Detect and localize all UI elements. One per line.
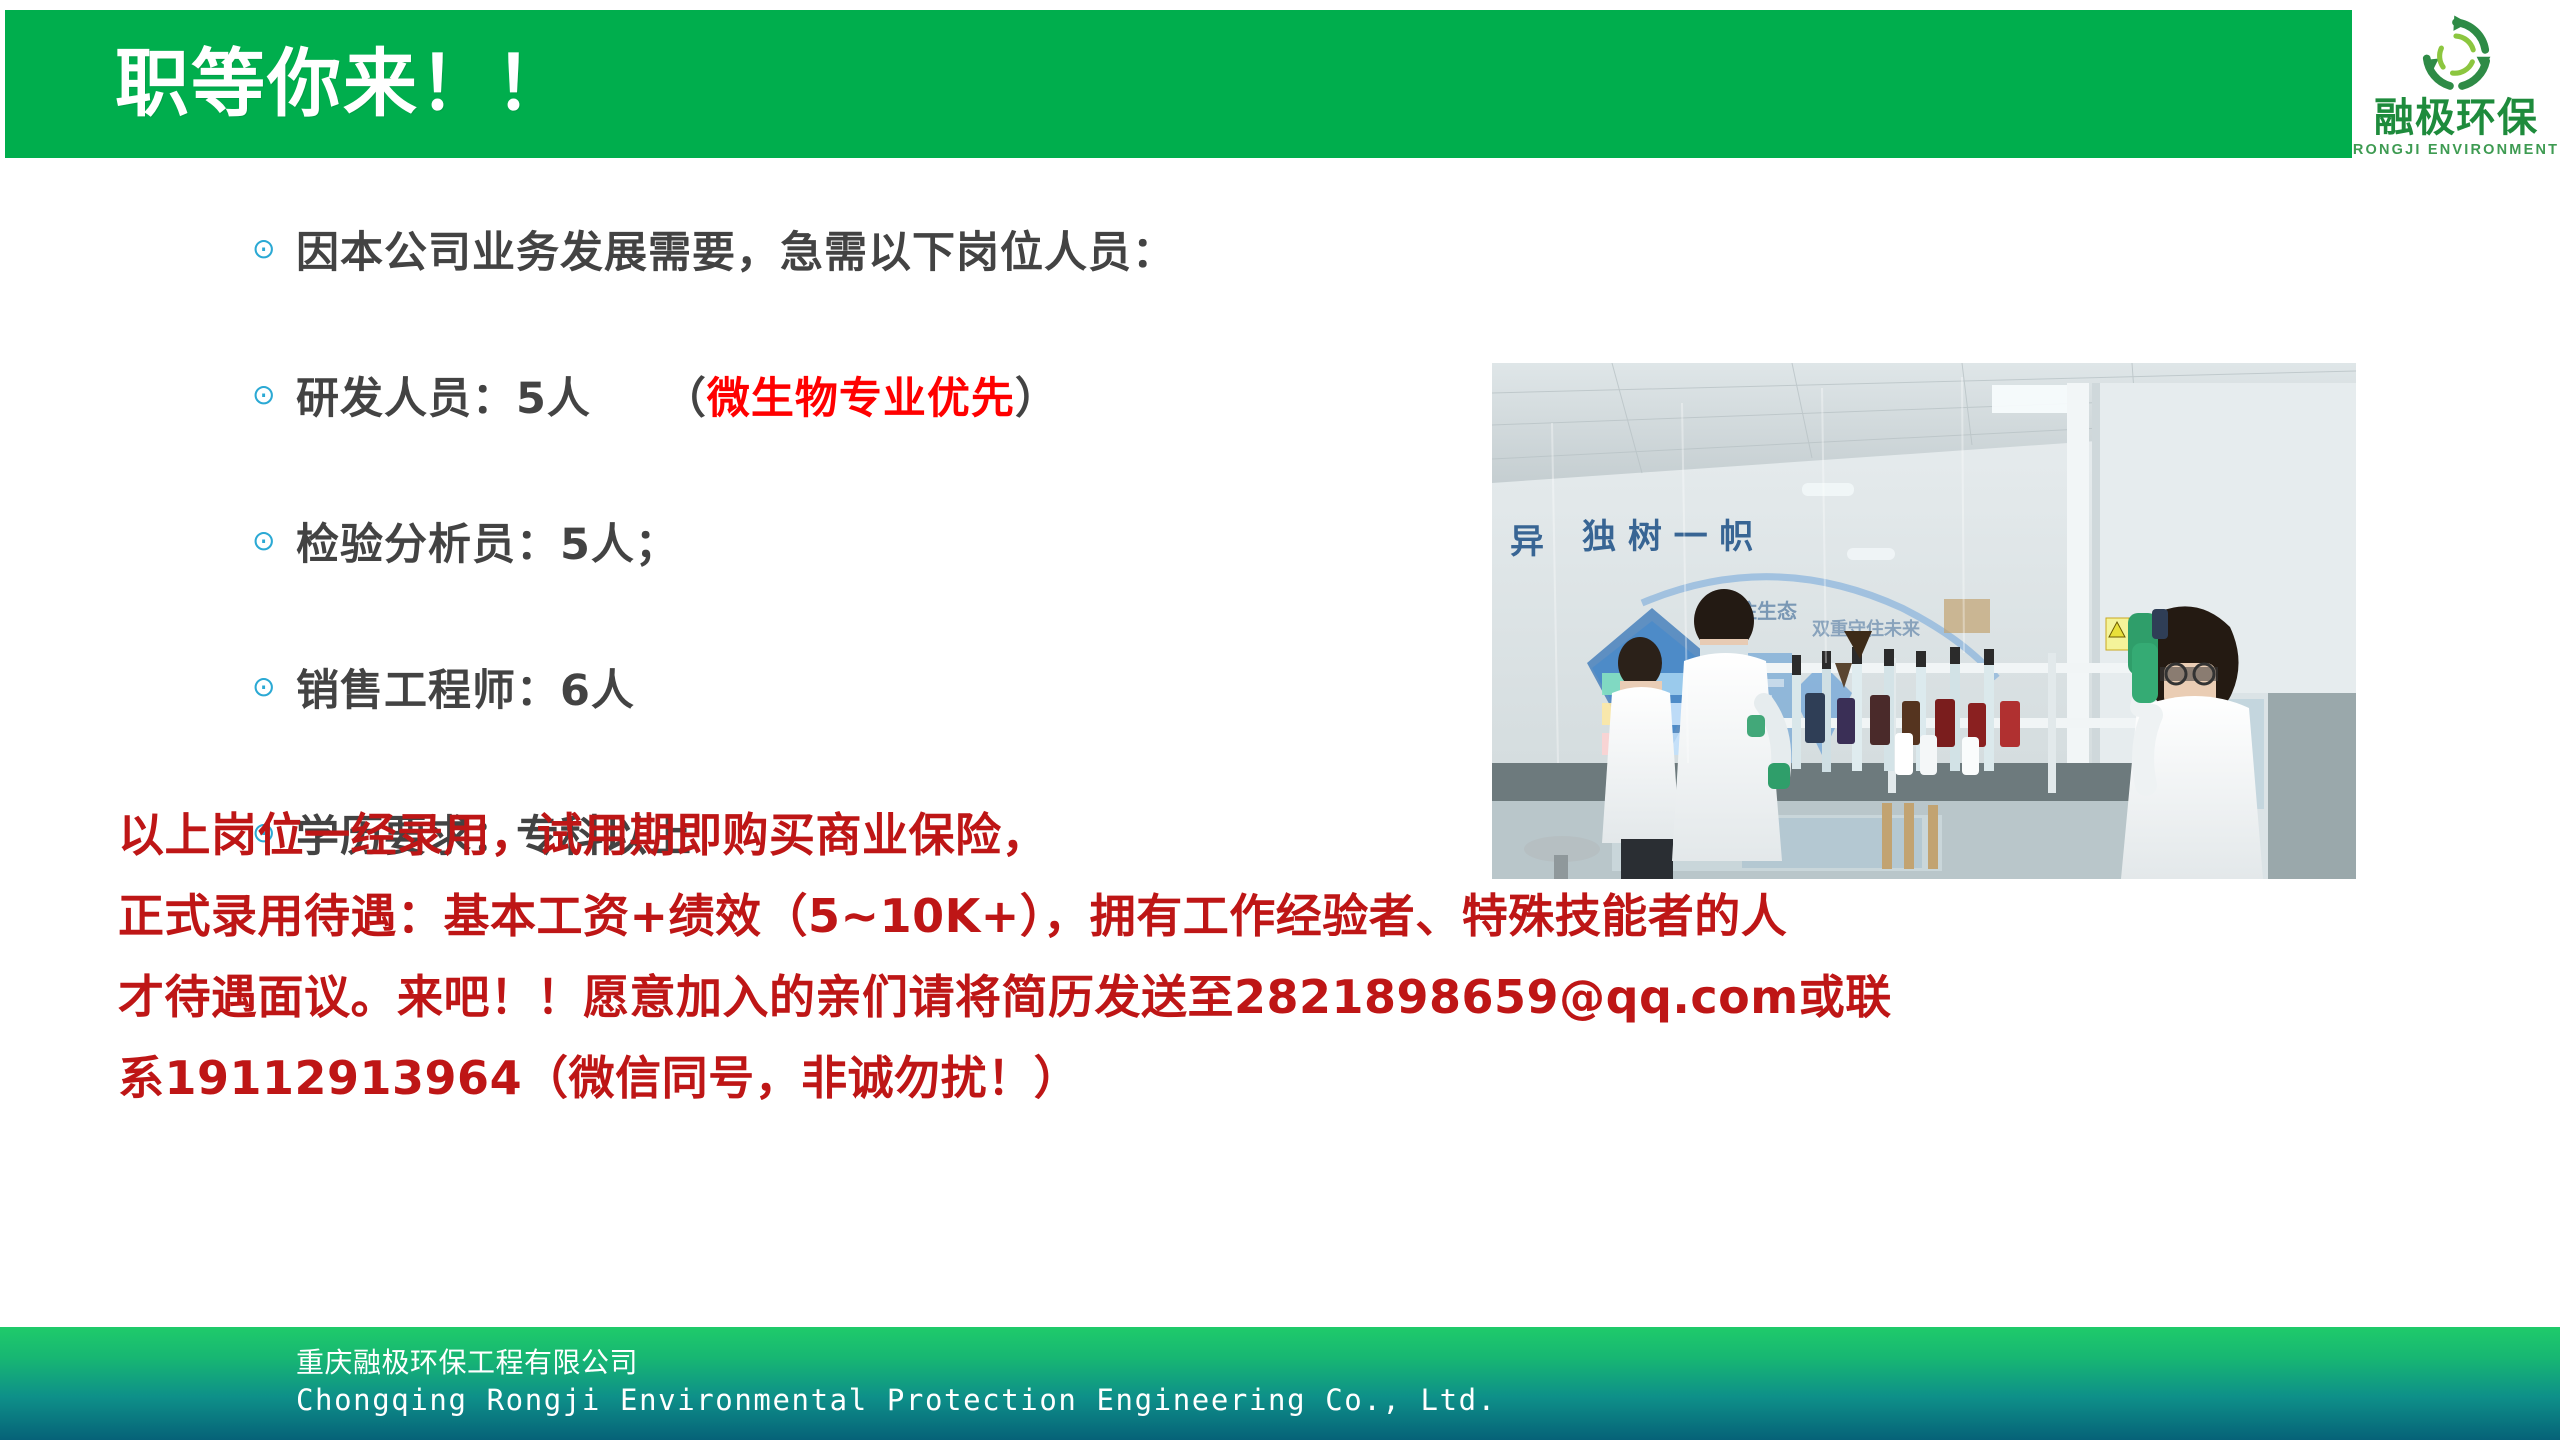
spacer: [252, 724, 1492, 796]
footer-bar: 重庆融极环保工程有限公司 Chongqing Rongji Environmen…: [0, 1327, 2560, 1440]
job-rd-label: 研发人员：5人: [296, 374, 591, 424]
paren-close: ）: [1015, 374, 1059, 424]
list-item: ⊙ 销售工程师：6人: [252, 650, 1492, 724]
recycle-circle-icon: [2413, 12, 2499, 98]
spacer: [252, 286, 1492, 358]
svg-text:独 树 一 帜: 独 树 一 帜: [1582, 517, 1754, 557]
list-item-label: 检验分析员：5人；: [296, 510, 679, 572]
notice-line: 正式录用待遇：基本工资+绩效（5~10K+），拥有工作经验者、特殊技能者的人: [118, 876, 2498, 957]
company-logo: 融极环保 RONGJI ENVIRONMENT: [2352, 6, 2560, 202]
notice-text: 以上岗位一经录用，试用期即购买商业保险， 正式录用待遇：基本工资+绩效（5~10…: [118, 795, 2498, 1119]
preference-note: 微生物专业优先: [707, 374, 1015, 424]
footer-company-zh: 重庆融极环保工程有限公司: [296, 1341, 638, 1381]
list-item-label: 销售工程师：6人: [296, 656, 635, 718]
notice-line: 以上岗位一经录用，试用期即购买商业保险，: [118, 795, 2498, 876]
list-item: ⊙ 因本公司业务发展需要，急需以下岗位人员：: [252, 212, 1492, 286]
spacer: [252, 432, 1492, 504]
list-item: ⊙ 研发人员：5人 （微生物专业优先）: [252, 358, 1492, 432]
bullet-dot-icon: ⊙: [252, 673, 296, 701]
list-item-label: 因本公司业务发展需要，急需以下岗位人员：: [296, 218, 1176, 280]
spacer: [252, 578, 1492, 650]
notice-line: 系19112913964（微信同号，非诚勿扰！）: [118, 1038, 2498, 1119]
logo-chinese-name: 融极环保: [2374, 96, 2538, 140]
list-item: ⊙ 检验分析员：5人；: [252, 504, 1492, 578]
job-bullet-list: ⊙ 因本公司业务发展需要，急需以下岗位人员： ⊙ 研发人员：5人 （微生物专业优…: [252, 200, 1492, 870]
bullet-dot-icon: ⊙: [252, 381, 296, 409]
logo-english-name: RONGJI ENVIRONMENT: [2353, 141, 2559, 159]
bullet-dot-icon: ⊙: [252, 235, 296, 263]
svg-text:异: 异: [1510, 522, 1544, 562]
bullet-dot-icon: ⊙: [252, 527, 296, 555]
notice-line: 才待遇面议。来吧！！愿意加入的亲们请将简历发送至2821898659@qq.co…: [118, 957, 2498, 1038]
page-title: 职等你来！！: [115, 30, 571, 138]
header-banner: 职等你来！！: [5, 10, 2395, 158]
footer-company-en: Chongqing Rongji Environmental Protectio…: [296, 1383, 1497, 1417]
paren-open: （: [663, 374, 707, 424]
list-item-label: 研发人员：5人 （微生物专业优先）: [296, 364, 1059, 426]
